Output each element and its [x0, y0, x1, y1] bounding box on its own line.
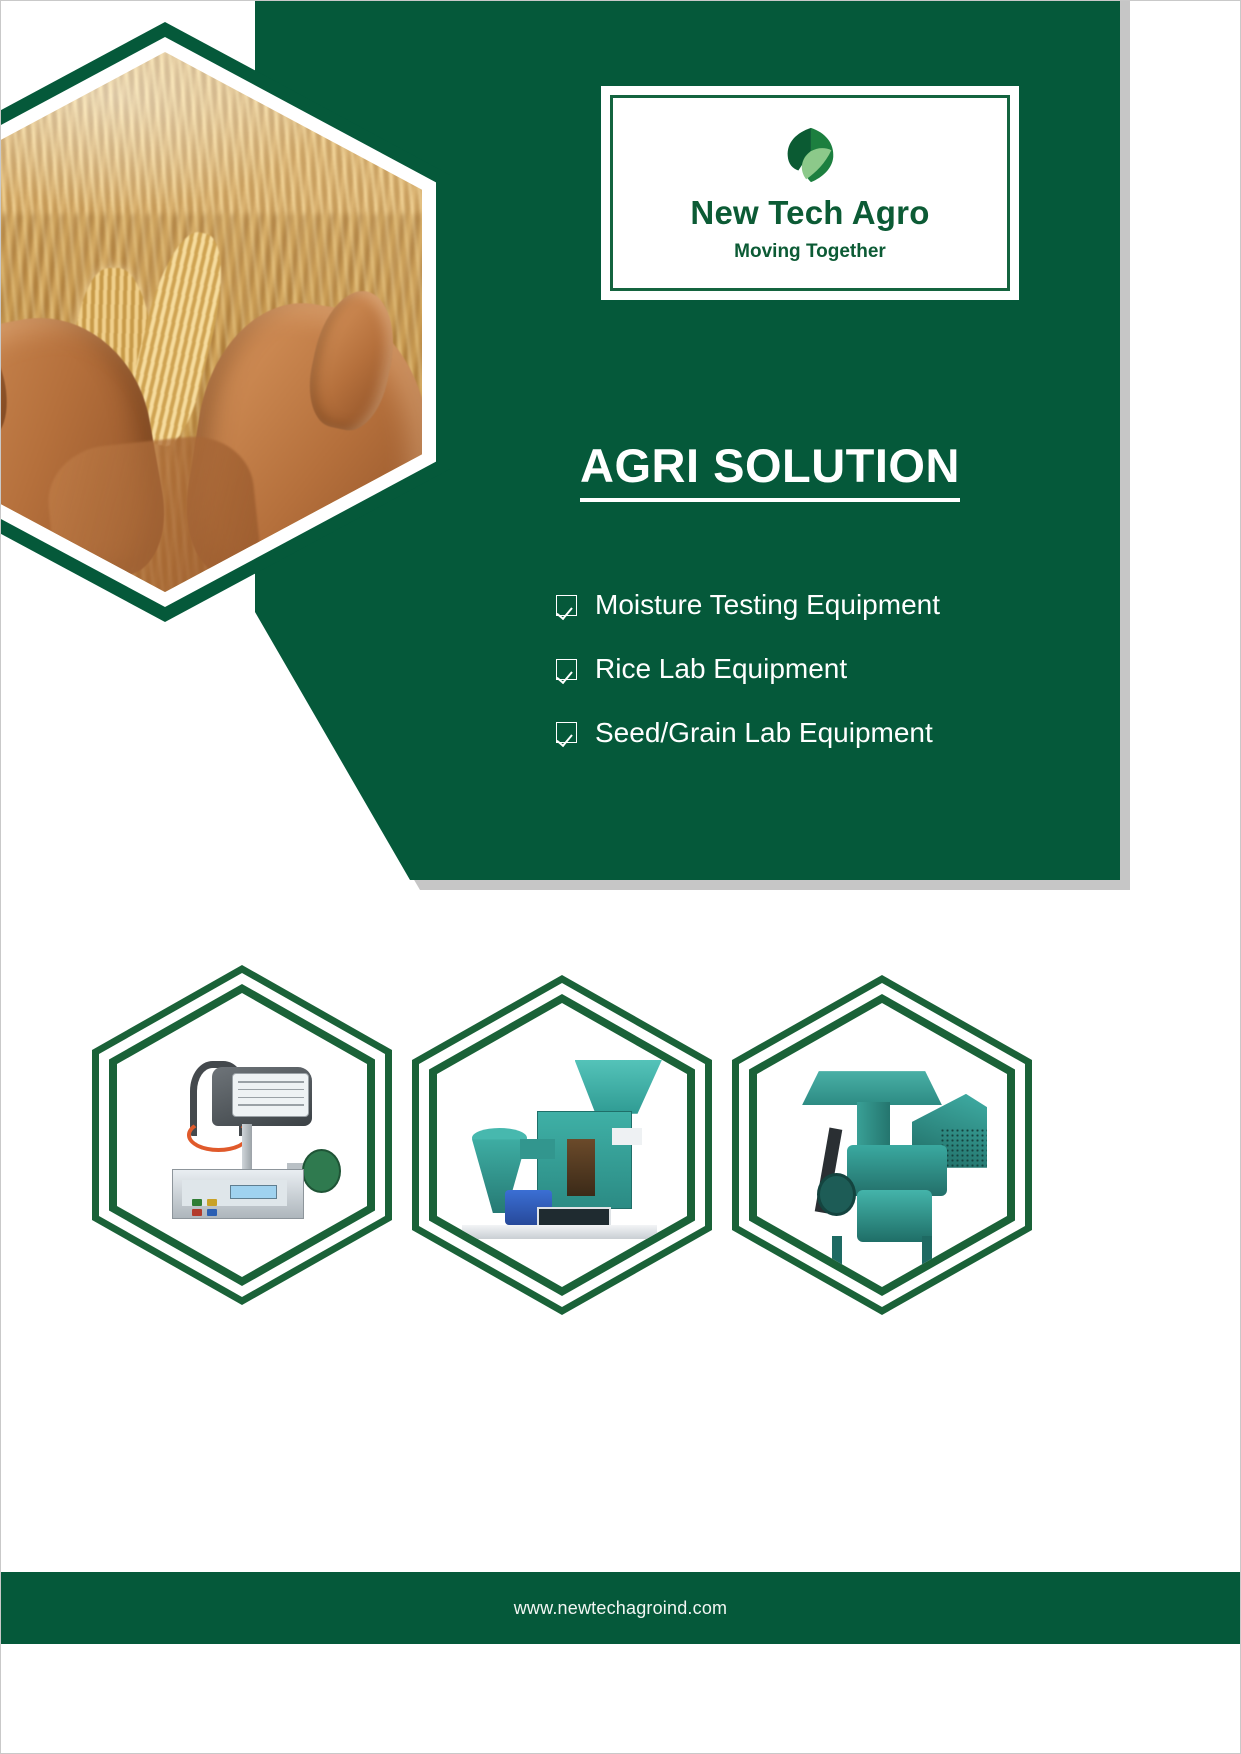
feature-item-rice-lab: Rice Lab Equipment	[556, 654, 1026, 685]
mill-hopper	[575, 1060, 663, 1114]
page-title-text: AGRI SOLUTION	[580, 438, 960, 502]
footer-bar: www.newtechagroind.com	[0, 1572, 1241, 1644]
product-hexagon-1	[92, 965, 392, 1305]
checked-checkbox-icon	[556, 595, 577, 616]
mill-window	[567, 1139, 595, 1196]
brochure-page: New Tech Agro Moving Together AGRI SOLUT…	[0, 0, 1241, 1754]
logo-card: New Tech Agro Moving Together	[601, 86, 1019, 300]
instrument-dial-chart	[232, 1073, 309, 1118]
instrument-column	[242, 1124, 252, 1175]
button-red	[192, 1209, 202, 1216]
product-hexagon-3	[732, 975, 1032, 1315]
product-hexagon-2	[412, 975, 712, 1315]
logo-tagline: Moving Together	[734, 241, 886, 263]
grinder-body	[847, 1145, 947, 1196]
feature-item-seed-grain-lab: Seed/Grain Lab Equipment	[556, 718, 1026, 749]
air-duct	[520, 1139, 555, 1159]
feeding-tray	[802, 1071, 942, 1105]
checked-checkbox-icon	[556, 722, 577, 743]
grinder-drum	[857, 1190, 932, 1241]
mill-nameplate	[612, 1128, 642, 1145]
orange-cable	[187, 1118, 250, 1152]
leaf-icon	[779, 124, 841, 188]
button-blue	[207, 1209, 217, 1216]
logo-company-name: New Tech Agro	[690, 196, 929, 229]
product-gallery	[0, 965, 1241, 1345]
mill-base-plate	[462, 1225, 657, 1239]
website-url[interactable]: www.newtechagroind.com	[514, 1598, 728, 1619]
page-title: AGRI SOLUTION	[520, 438, 1020, 502]
button-green	[192, 1199, 202, 1206]
feature-label: Seed/Grain Lab Equipment	[595, 718, 933, 749]
hand-wheel	[302, 1149, 341, 1193]
feature-label: Rice Lab Equipment	[595, 654, 847, 685]
instrument-display	[230, 1185, 277, 1200]
logo-card-inner-border: New Tech Agro Moving Together	[610, 95, 1010, 291]
feed-chute	[857, 1102, 890, 1147]
feature-list: Moisture Testing Equipment Rice Lab Equi…	[556, 590, 1026, 781]
button-yellow	[207, 1199, 217, 1206]
belt-pulley	[817, 1173, 856, 1216]
feature-label: Moisture Testing Equipment	[595, 590, 940, 621]
checked-checkbox-icon	[556, 659, 577, 680]
feature-item-moisture: Moisture Testing Equipment	[556, 590, 1026, 621]
hero-hexagon	[0, 22, 450, 622]
